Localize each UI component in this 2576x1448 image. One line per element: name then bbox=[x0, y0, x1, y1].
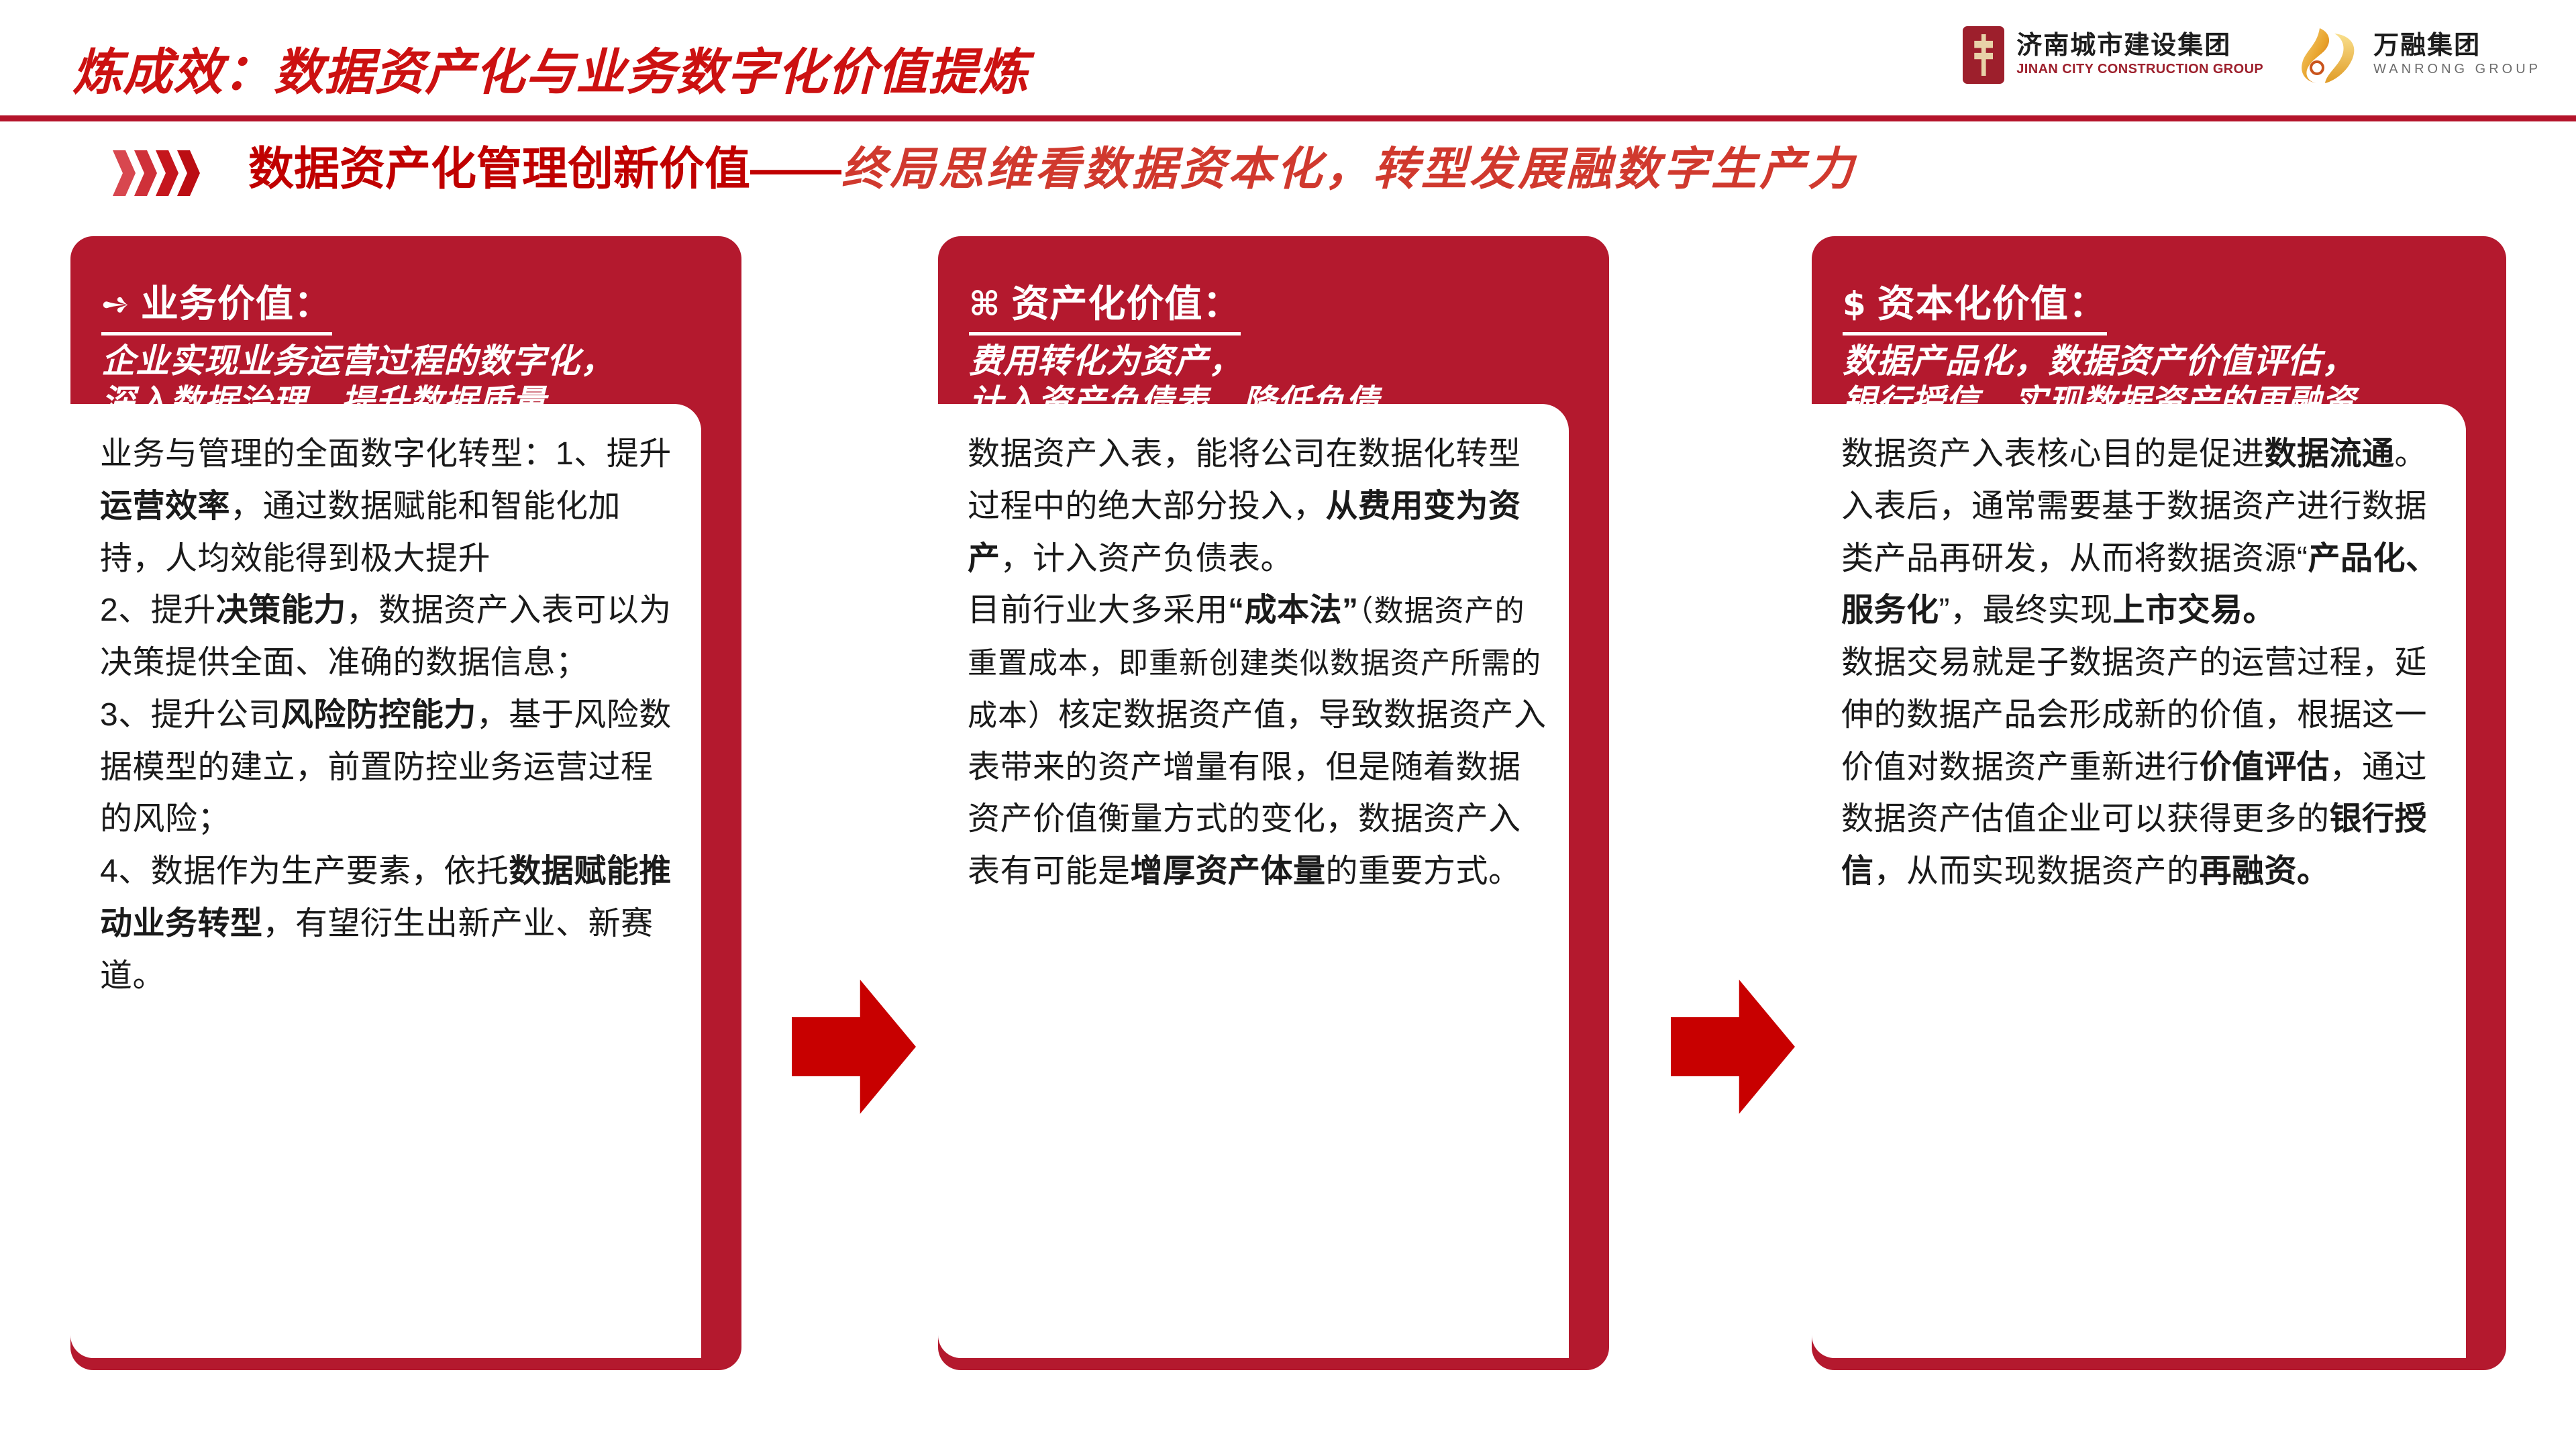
card-title-label: 业务价值： bbox=[141, 282, 332, 325]
card-header: ➺业务价值： 企业实现业务运营过程的数字化， 深入数据治理，提升数据质量 bbox=[70, 236, 741, 423]
slide-header: 炼成效：数据资产化与业务数字化价值提炼 济南城市建设集团 JINAN CITY … bbox=[0, 0, 2576, 119]
logo-jinan-label-en: JINAN CITY CONSTRUCTION GROUP bbox=[2016, 62, 2263, 77]
logo-jinan-label-cn: 济南城市建设集团 bbox=[2016, 33, 2263, 60]
card-body-text: 业务与管理的全面数字化转型：1、提升运营效率，通过数据赋能和智能化加持，人均效能… bbox=[100, 428, 681, 1002]
command-icon: ⌘ bbox=[969, 285, 1000, 323]
card-assetization-value[interactable]: ⌘资产化价值： 费用转化为资产， 计入资产负债表，降低负债 数据资产入表，能将公… bbox=[938, 236, 1609, 1370]
card-subtitle-line: 费用转化为资产， bbox=[969, 341, 1586, 382]
logo-wanrong-label-cn: 万融集团 bbox=[2373, 33, 2541, 60]
slide-root: 炼成效：数据资产化与业务数字化价值提炼 济南城市建设集团 JINAN CITY … bbox=[0, 0, 2576, 1448]
logo-group: 济南城市建设集团 JINAN CITY CONSTRUCTION GROUP bbox=[1963, 25, 2541, 85]
logo-wanrong-label-en: WANRONG GROUP bbox=[2373, 62, 2541, 77]
logo-jinan-city-construction-group: 济南城市建设集团 JINAN CITY CONSTRUCTION GROUP bbox=[1963, 26, 2263, 84]
wanrong-flame-mark-icon bbox=[2300, 25, 2361, 85]
section-subtitle-bar: 数据资产化管理创新价值——终局思维看数据资本化，转型发展融数字生产力 bbox=[0, 127, 2576, 215]
double-chevron-right-icon bbox=[113, 150, 199, 196]
dollar-icon: $ bbox=[1843, 285, 1867, 323]
flow-arrow-1 bbox=[792, 980, 916, 1114]
card-title-label: 资本化价值： bbox=[1877, 282, 2107, 325]
section-subtitle: 数据资产化管理创新价值——终局思维看数据资本化，转型发展融数字生产力 bbox=[248, 132, 1856, 198]
card-capitalization-value[interactable]: $资本化价值： 数据产品化，数据资产价值评估， 银行授信，实现数据资产的再融资 … bbox=[1812, 236, 2506, 1370]
card-title-label: 资产化价值： bbox=[1011, 282, 1241, 325]
card-header: $资本化价值： 数据产品化，数据资产价值评估， 银行授信，实现数据资产的再融资 bbox=[1812, 236, 2506, 423]
page-title: 炼成效：数据资产化与业务数字化价值提炼 bbox=[72, 32, 1029, 104]
card-header: ⌘资产化价值： 费用转化为资产， 计入资产负债表，降低负债 bbox=[938, 236, 1609, 423]
header-divider bbox=[0, 115, 2576, 121]
section-subtitle-main: 数据资产化管理创新价值—— bbox=[248, 144, 841, 195]
card-body-text: 数据资产入表，能将公司在数据化转型过程中的绝大部分投入，从费用变为资产，计入资产… bbox=[968, 428, 1549, 898]
section-subtitle-tail: 终局思维看数据资本化，转型发展融数字生产力 bbox=[841, 144, 1856, 195]
card-title: $资本化价值： bbox=[1843, 274, 2107, 335]
card-body: 业务与管理的全面数字化转型：1、提升运营效率，通过数据赋能和智能化加持，人均效能… bbox=[70, 404, 701, 1358]
card-business-value[interactable]: ➺业务价值： 企业实现业务运营过程的数字化， 深入数据治理，提升数据质量 业务与… bbox=[70, 236, 741, 1370]
jinan-shield-mark-icon bbox=[1963, 26, 2004, 84]
card-subtitle-line: 企业实现业务运营过程的数字化， bbox=[101, 341, 719, 382]
logo-wanrong-group: 万融集团 WANRONG GROUP bbox=[2300, 25, 2541, 85]
card-body: 数据资产入表，能将公司在数据化转型过程中的绝大部分投入，从费用变为资产，计入资产… bbox=[938, 404, 1569, 1358]
card-title: ➺业务价值： bbox=[101, 274, 332, 335]
card-body: 数据资产入表核心目的是促进数据流通。入表后，通常需要基于数据资产进行数据类产品再… bbox=[1812, 404, 2466, 1358]
fast-forward-icon: ➺ bbox=[101, 285, 130, 323]
card-title: ⌘资产化价值： bbox=[969, 274, 1241, 335]
card-body-text: 数据资产入表核心目的是促进数据流通。入表后，通常需要基于数据资产进行数据类产品再… bbox=[1841, 428, 2446, 898]
value-cards-container: ➺业务价值： 企业实现业务运营过程的数字化， 深入数据治理，提升数据质量 业务与… bbox=[0, 236, 2576, 1390]
card-subtitle-line: 数据产品化，数据资产价值评估， bbox=[1843, 341, 2483, 382]
flow-arrow-2 bbox=[1671, 980, 1795, 1114]
